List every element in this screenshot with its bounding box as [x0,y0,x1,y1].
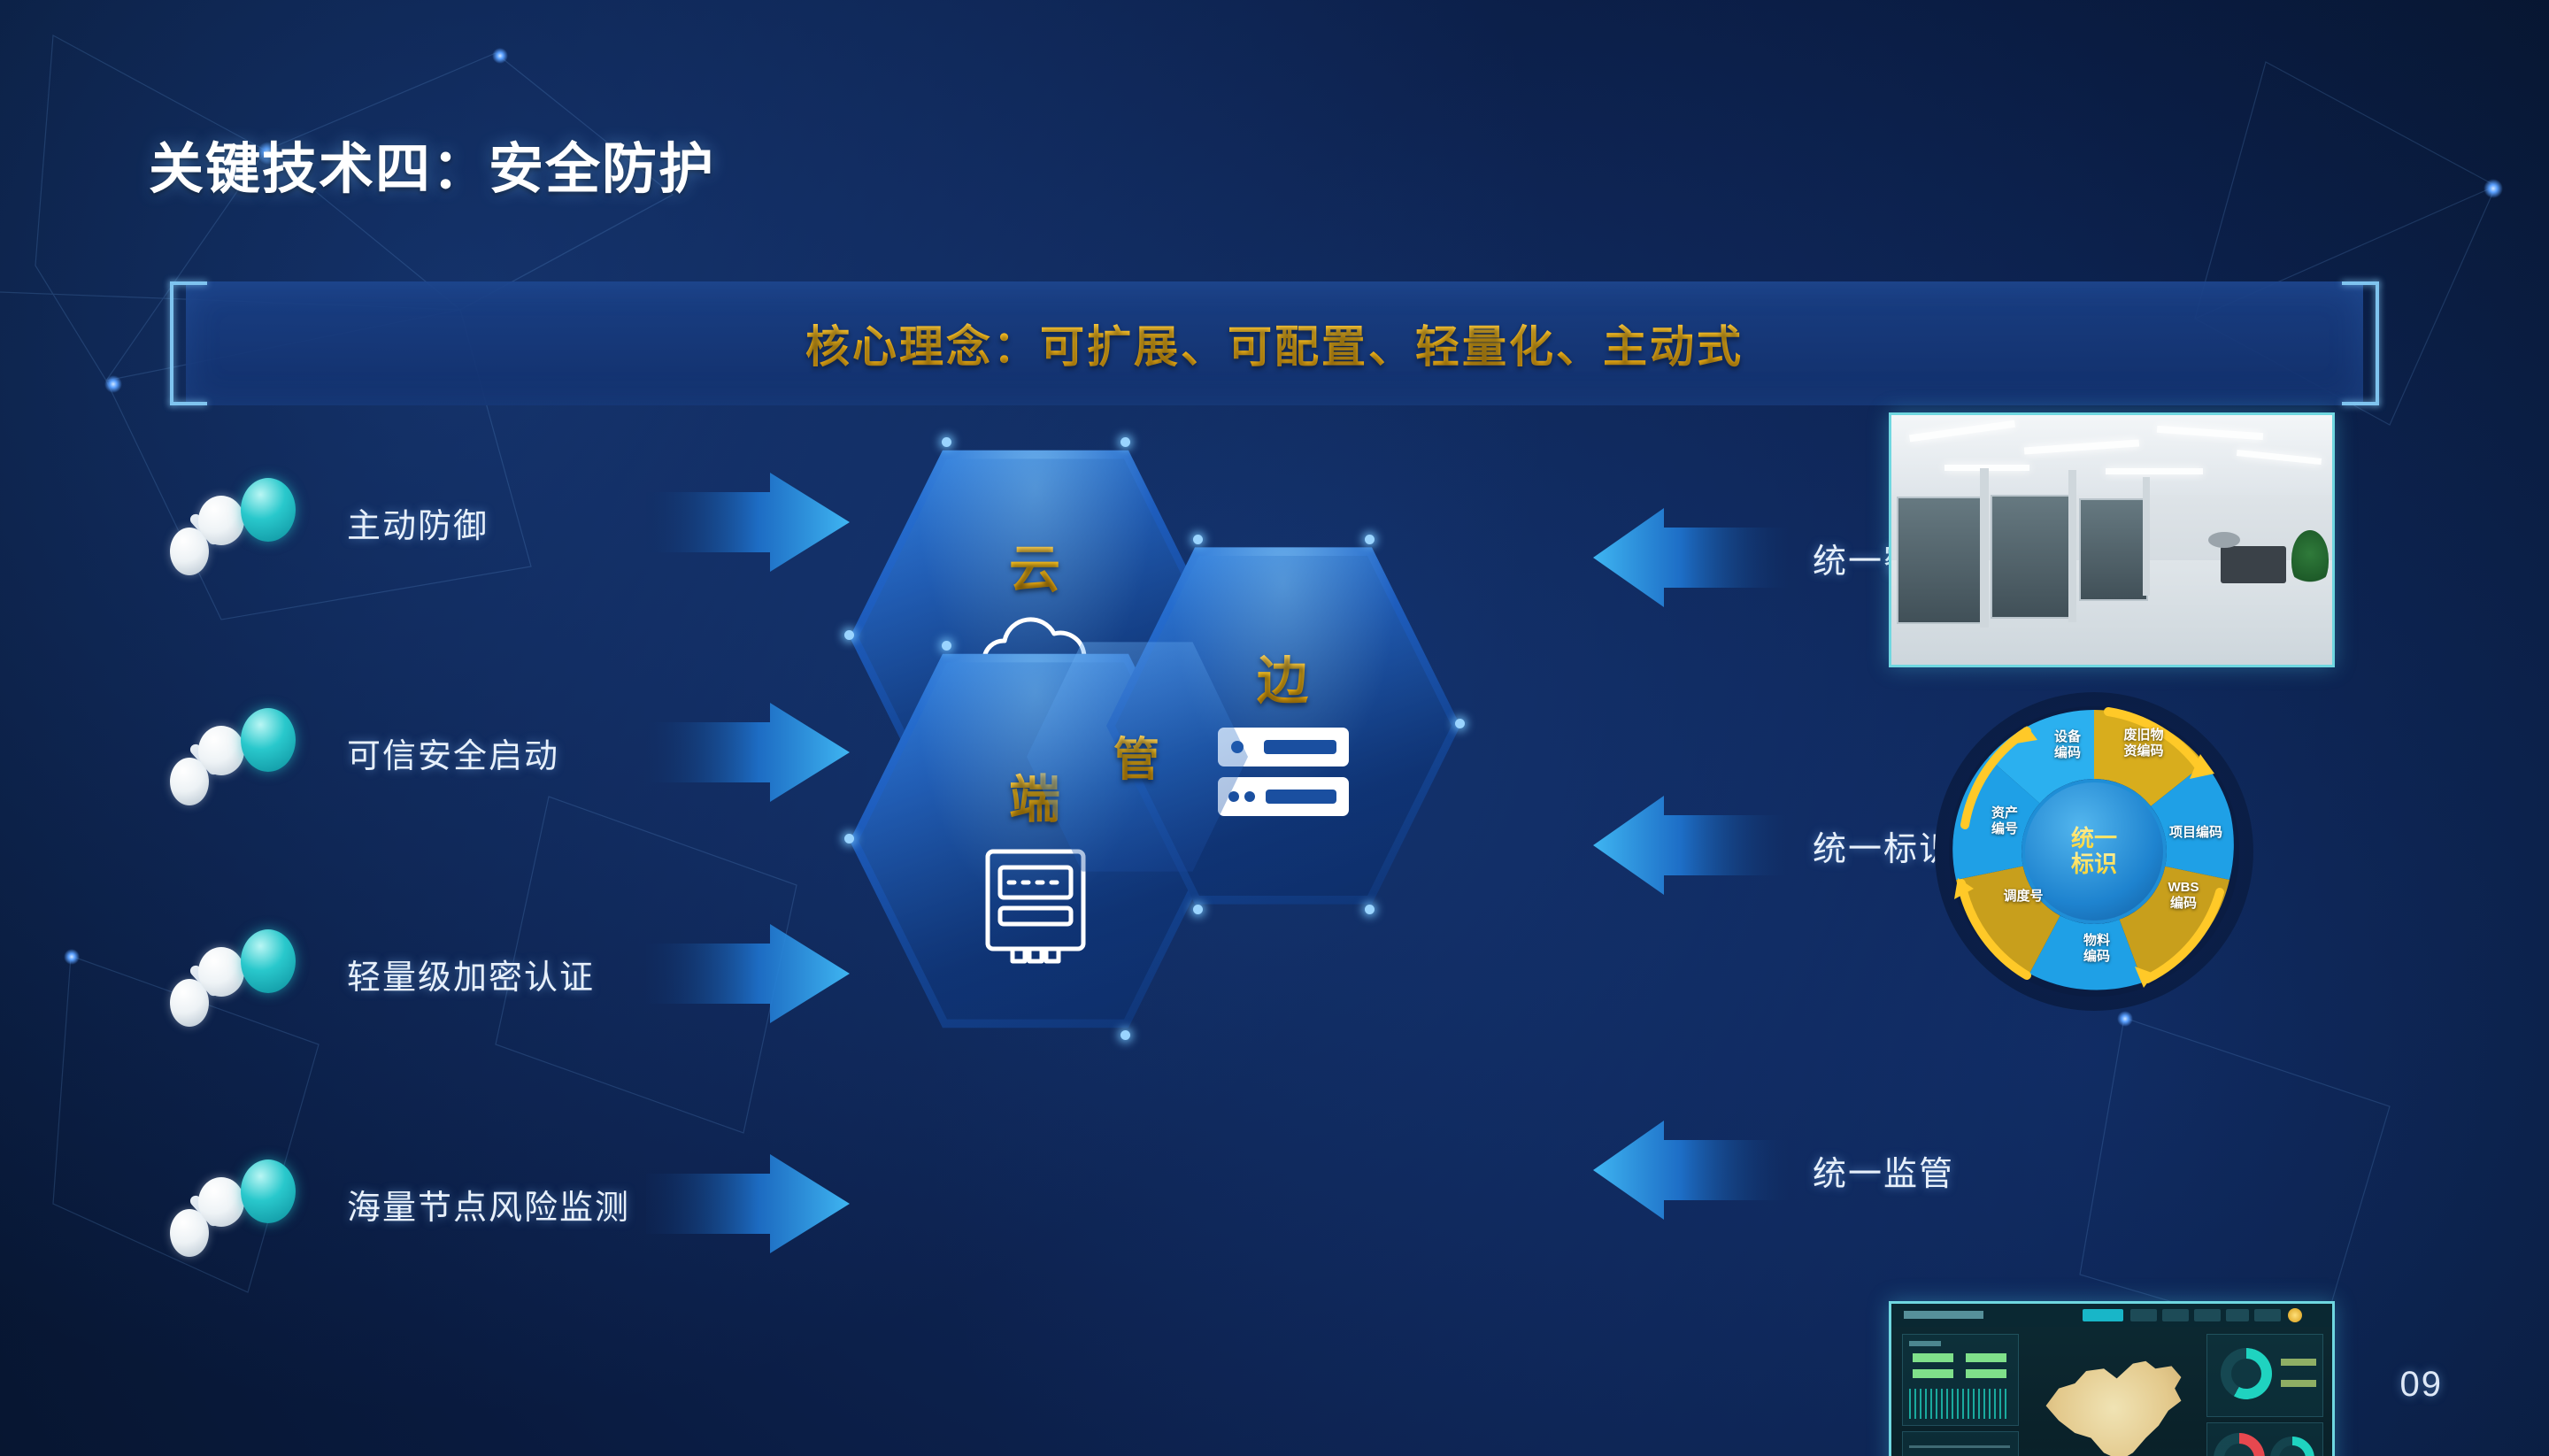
hexagon-cluster: 云 端 [850,443,1593,1204]
right-feature-label: 统一标识 [1813,821,1954,870]
page-number: 09 [2400,1365,2444,1405]
molecule-icon [166,699,299,805]
arrow-right-icon [646,699,850,805]
donut-segment-label: 调度号 [1986,889,2060,905]
right-feature-row: 统一监管 [1593,1117,1954,1223]
feature-row: 海量节点风险监测 [166,1151,850,1257]
glow-dot [64,949,80,965]
glow-dot [2484,179,2503,198]
molecule-icon [166,469,299,575]
arrow-left-icon [1593,1117,1788,1223]
feature-label: 主动防御 [347,498,639,547]
arrow-right-icon [646,1151,850,1257]
feature-label: 海量节点风险监测 [347,1180,639,1229]
arrow-right-icon [646,921,850,1027]
donut-segment-label: 设备 编码 [2034,729,2101,761]
page-title: 关键技术四：安全防护 [149,124,715,204]
slide-canvas: 关键技术四：安全防护 核心理念：可扩展、可配置、轻量化、主动式 主动防御 [0,0,2549,1456]
monitoring-dashboard [1889,1301,2335,1456]
donut-segment-label: WBS 编码 [2151,880,2216,912]
molecule-icon [166,1151,299,1257]
unified-identity-donut: 统一 标识 废旧物 资编码 项目编码 WBS 编码 物料 编码 调度号 资产 编… [1935,692,2253,1011]
right-feature-label: 统一监管 [1813,1146,1954,1195]
feature-row: 主动防御 [166,469,850,575]
feature-row: 可信安全启动 [166,699,850,805]
arrow-right-icon [646,469,850,575]
glow-dot [492,48,508,64]
data-center-photo [1889,412,2335,667]
right-feature-row: 统一标识 [1593,792,1954,898]
arrow-left-icon [1593,505,1788,611]
feature-row: 轻量级加密认证 [166,921,850,1027]
donut-center-line1: 统一 [2071,826,2117,851]
donut-segment-label: 物料 编码 [2064,933,2129,965]
molecule-icon [166,921,299,1027]
hexagon-pipe[interactable]: 管 [1027,637,1248,876]
arrow-left-icon [1593,792,1788,898]
donut-segment-label: 废旧物 资编码 [2108,728,2179,759]
feature-label: 可信安全启动 [347,728,639,777]
feature-label: 轻量级加密认证 [347,950,639,998]
donut-segment-label: 资产 编号 [1970,805,2039,837]
core-concept-banner: 核心理念：可扩展、可配置、轻量化、主动式 [186,281,2363,405]
donut-segment-label: 项目编码 [2147,825,2245,841]
glow-dot [2117,1011,2133,1027]
banner-text: 核心理念：可扩展、可配置、轻量化、主动式 [186,281,2363,405]
donut-center-line2: 标识 [2071,851,2117,877]
hexagon-label: 管 [1027,722,1248,789]
glow-dot [104,375,122,393]
